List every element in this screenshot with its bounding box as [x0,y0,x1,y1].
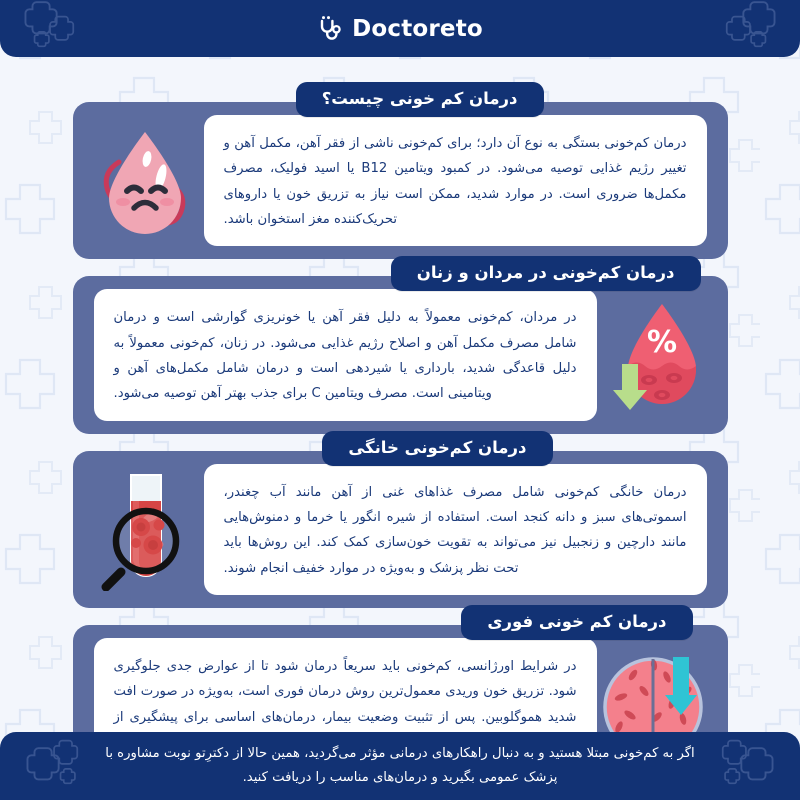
card-panel: در مردان، کم‌خونی معمولاً به دلیل فقر آه… [94,289,597,420]
stethoscope-icon [317,15,343,43]
blood-test-tube-magnifier-icon [89,467,201,591]
card-illustration [86,470,204,588]
card-illustration: % [597,296,715,414]
card-panel: درمان خانگی کم‌خونی شامل مصرف غذاهای غنی… [204,464,707,595]
medical-cross-cluster-icon [708,0,778,57]
card-body-text: در مردان، کم‌خونی معمولاً به دلیل فقر آه… [114,305,577,406]
card-panel: درمان کم‌خونی بستگی به نوع آن دارد؛ برای… [204,115,707,246]
card-illustration [86,122,204,240]
card-title-pill: درمان کم‌خونی خانگی [322,431,552,466]
medical-cross-cluster-icon [22,0,92,57]
medical-cross-cluster-icon [706,738,776,796]
card-anemia-men-women: درمان کم‌خونی در مردان و زنان % در مردان… [73,276,728,433]
percent-label: % [646,325,676,360]
card-anemia-treatment-definition: درمان کم خونی چیست؟ درمان کم‌خونی بستگی … [73,102,728,259]
footer-bar: اگر به کم‌خونی مبتلا هستید و به دنبال را… [0,732,800,800]
card-list: درمان کم خونی چیست؟ درمان کم‌خونی بستگی … [0,57,800,783]
card-body-text: درمان کم‌خونی بستگی به نوع آن دارد؛ برای… [224,131,687,232]
sad-blood-drop-character-icon [89,122,201,240]
infographic-page: Doctoreto درمان کم خونی چیست؟ درمان کم‌خ… [0,0,800,800]
card-title-pill: درمان کم خونی چیست؟ [296,82,544,117]
footer-cta-text: اگر به کم‌خونی مبتلا هستید و به دنبال را… [100,742,700,791]
brand-name: Doctoreto [352,16,483,42]
card-title-pill: درمان کم خونی فوری [461,605,692,640]
card-anemia-home-remedies: درمان کم‌خونی خانگی درمان خانگی کم‌خونی … [73,451,728,608]
brand-logo[interactable]: Doctoreto [317,15,483,43]
card-title-pill: درمان کم‌خونی در مردان و زنان [391,256,701,291]
medical-cross-cluster-icon [24,738,94,796]
blood-drop-percent-down-arrow-icon: % [600,296,712,414]
card-body-text: درمان خانگی کم‌خونی شامل مصرف غذاهای غنی… [224,480,687,581]
header-bar: Doctoreto [0,0,800,57]
